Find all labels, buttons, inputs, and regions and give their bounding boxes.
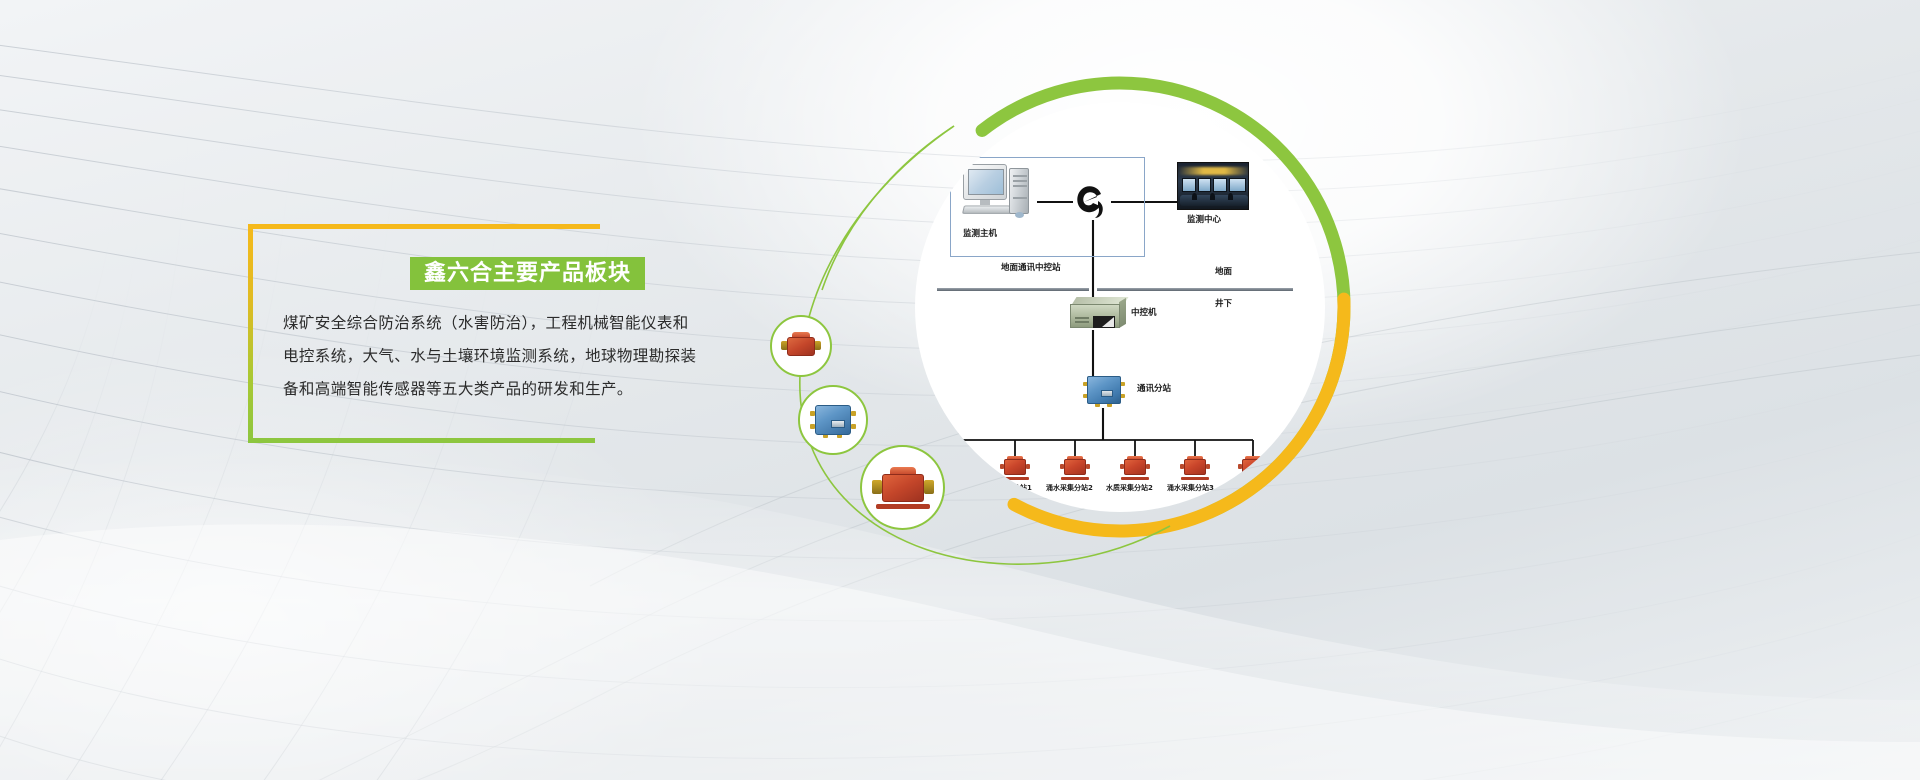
description-line-1: 煤矿安全综合防治系统（水害防治），工程机械智能仪表和 <box>283 307 703 340</box>
red-device-small-icon <box>781 331 821 361</box>
label-station-4: 水质采集分站2 <box>1106 485 1153 492</box>
internet-cloud-e-icon <box>1071 180 1113 222</box>
description-line-3: 备和高端智能传感器等五大类产品的研发和生产。 <box>283 373 703 406</box>
monitoring-center-photo <box>1177 162 1249 210</box>
label-underground: 井下 <box>1215 300 1232 309</box>
product-bubble-red-large <box>860 445 945 530</box>
system-topology-disc: 监测主机 中控机 <box>915 102 1325 512</box>
label-station-5: 涌水采集分站3 <box>1167 485 1214 492</box>
panel-frame-left-border <box>248 224 253 443</box>
panel-frame-bottom-border <box>248 438 595 443</box>
collection-station-icon-2 <box>1000 456 1030 480</box>
label-monitor-host: 监测主机 <box>963 230 997 239</box>
label-communication-substation: 通讯分站 <box>1137 385 1171 394</box>
surface-divider-left <box>937 288 1089 291</box>
label-station-6: 水质采集分站3 <box>1227 485 1274 492</box>
system-topology-diagram: 监测主机 中控机 <box>915 102 1325 512</box>
collection-station-icon-3 <box>1060 456 1090 480</box>
collection-station-icon-5 <box>1180 456 1210 480</box>
monitor-host-computer-icon <box>963 164 1035 222</box>
label-surface: 地面 <box>1215 268 1232 277</box>
collection-station-icon-4 <box>1120 456 1150 480</box>
label-monitoring-center: 监测中心 <box>1187 216 1221 225</box>
blue-device-icon <box>810 402 856 438</box>
section-title-text: 鑫六合主要产品板块 <box>424 263 631 285</box>
product-bubble-red-small <box>770 315 832 377</box>
label-ground-control-station: 地面通讯中控站 <box>1001 264 1061 273</box>
product-system-illustration: 监测主机 中控机 <box>740 40 1380 580</box>
label-station-2: 水质采集分站1 <box>985 485 1032 492</box>
panel-frame-top-border <box>248 224 600 229</box>
section-description: 煤矿安全综合防治系统（水害防治），工程机械智能仪表和 电控系统，大气、水与土壤环… <box>283 307 703 406</box>
central-control-server-icon <box>1070 297 1126 331</box>
section-title-banner: 鑫六合主要产品板块 <box>410 257 645 290</box>
red-device-large-icon <box>872 465 934 511</box>
collection-station-icon-1 <box>940 456 970 480</box>
product-bubble-blue <box>798 385 868 455</box>
label-central-control: 中控机 <box>1131 309 1157 318</box>
surface-divider-right <box>1097 288 1293 291</box>
description-line-2: 电控系统，大气、水与土壤环境监测系统，地球物理勘探装 <box>283 340 703 373</box>
label-station-3: 涌水采集分站2 <box>1046 485 1093 492</box>
communication-substation-icon <box>1083 374 1125 406</box>
collection-station-icon-6 <box>1238 456 1268 480</box>
